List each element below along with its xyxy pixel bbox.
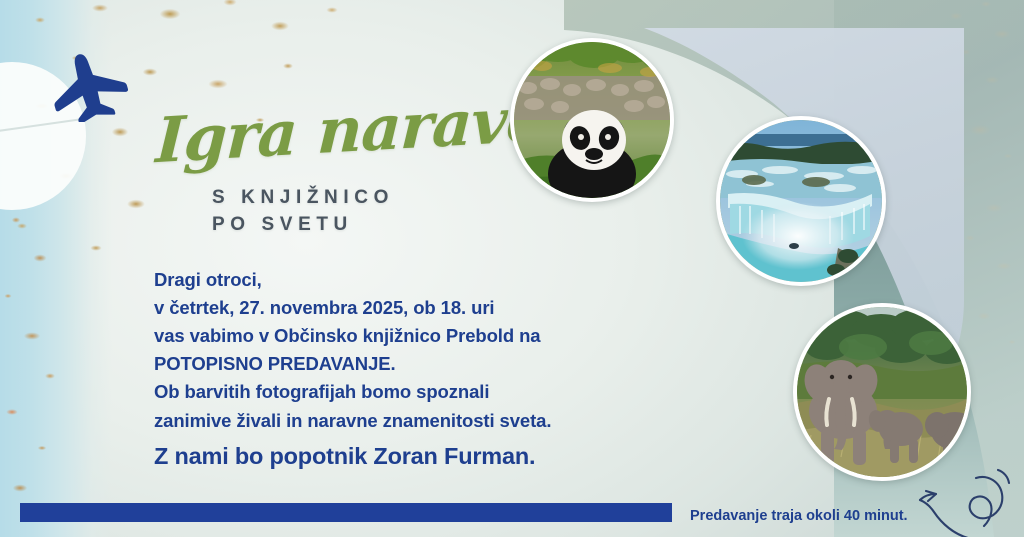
body-line-5: Ob barvitih fotografijah bomo spoznali	[154, 378, 624, 406]
body-line-1: Dragi otroci,	[154, 266, 624, 294]
duration-note: Predavanje traja okoli 40 minut.	[690, 508, 908, 524]
airplane-icon	[48, 50, 128, 122]
presenter-line: Z nami bo popotnik Zoran Furman.	[154, 443, 535, 470]
subtitle-line-2: PO SVETU	[212, 212, 576, 239]
body-line-4: POTOPISNO PREDAVANJE.	[154, 350, 624, 378]
panda-photo	[510, 38, 674, 202]
body-line-2: v četrtek, 27. novembra 2025, ob 18. uri	[154, 294, 624, 322]
body-line-3: vas vabimo v Občinsko knjižnico Prebold …	[154, 322, 624, 350]
poster-canvas: Igra narave S KNJIŽNICO PO SVETU Dragi o…	[0, 0, 1024, 537]
subtitle: S KNJIŽNICO PO SVETU	[212, 185, 576, 239]
panda-photo-art	[514, 42, 670, 198]
navy-divider-bar	[20, 503, 672, 522]
body-copy: Dragi otroci, v četrtek, 27. novembra 20…	[154, 266, 624, 435]
elephants-photo	[793, 303, 971, 481]
waterfall-photo	[716, 116, 886, 286]
body-line-6: zanimive živali in naravne znamenitosti …	[154, 407, 624, 435]
rust-speckle-texture-left	[0, 200, 78, 537]
subtitle-line-1: S KNJIŽNICO	[212, 185, 576, 212]
elephants-photo-art	[797, 307, 967, 477]
waterfall-photo-art	[720, 120, 882, 282]
